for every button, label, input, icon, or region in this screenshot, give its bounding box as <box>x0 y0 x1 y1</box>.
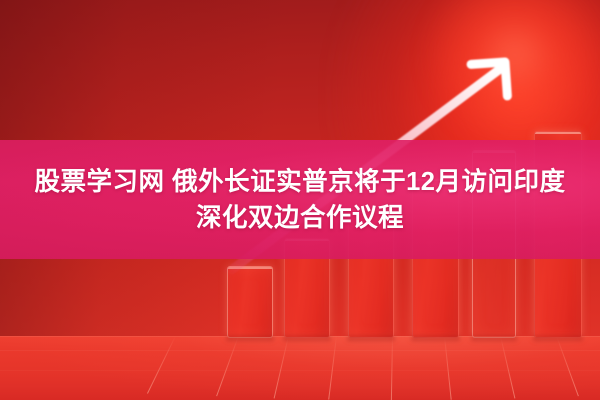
bar-shadow <box>471 336 517 341</box>
chart-bar-1 <box>227 266 273 338</box>
bar-cap <box>228 267 272 269</box>
banner-image: 股票学习网 俄外长证实普京将于12月访问印度 深化双边合作议程 <box>0 0 600 400</box>
bar-cap <box>535 132 581 134</box>
bar-shadow <box>226 336 274 341</box>
bar-shadow <box>347 336 395 341</box>
bar-shadow <box>411 336 460 341</box>
bar-shadow <box>283 336 331 341</box>
headline-line-2: 深化双边合作议程 <box>196 201 404 235</box>
headline-text-block: 股票学习网 俄外长证实普京将于12月访问印度 深化双边合作议程 <box>0 140 600 259</box>
bar-shadow <box>533 336 583 341</box>
headline-line-1: 股票学习网 俄外长证实普京将于12月访问印度 <box>35 165 566 199</box>
